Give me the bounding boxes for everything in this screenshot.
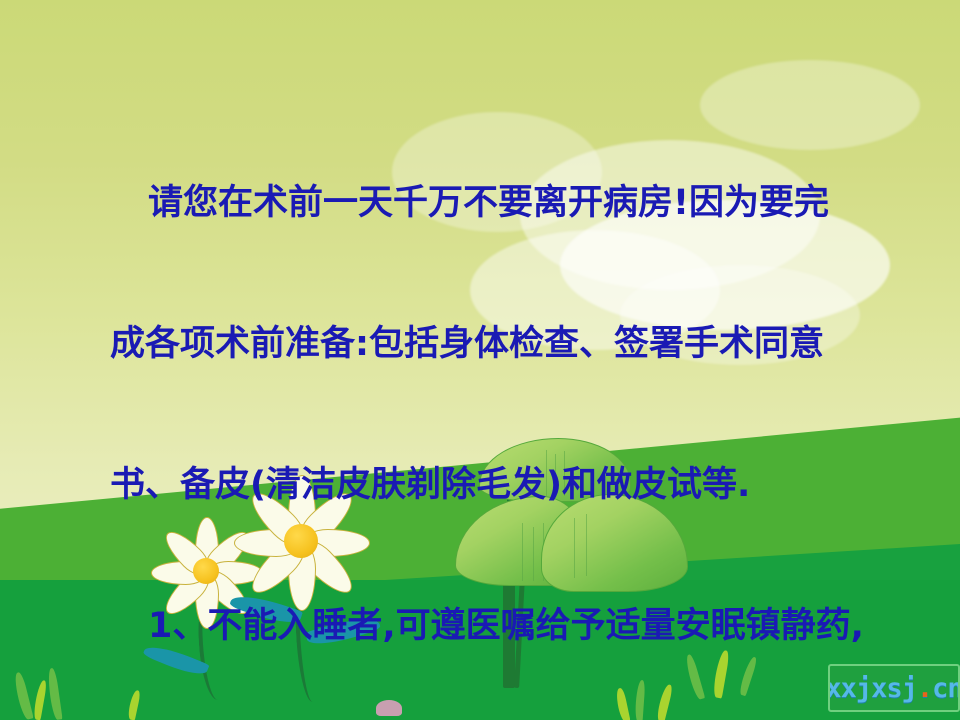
body-line: 成各项术前准备:包括身体检查、签署手术同意 (0, 321, 960, 368)
watermark-suffix: cn (932, 673, 960, 704)
presentation-slide: 请您在术前一天千万不要离开病房!因为要完 成各项术前准备:包括身体检查、签署手术… (0, 0, 960, 720)
body-line: 书、备皮(清洁皮肤剃除毛发)和做皮试等. (0, 462, 960, 509)
body-line: 1、不能入睡者,可遵医嘱给予适量安眠镇静药, (0, 603, 960, 650)
body-line: 请您在术前一天千万不要离开病房!因为要完 (0, 180, 960, 227)
watermark-badge: xxjxsj.cn (828, 664, 960, 712)
slide-body-text: 请您在术前一天千万不要离开病房!因为要完 成各项术前准备:包括身体检查、签署手术… (0, 86, 960, 720)
watermark-prefix: xxjxsj (828, 673, 917, 704)
watermark-dot: . (917, 673, 932, 704)
watermark-text: xxjxsj.cn (828, 673, 960, 704)
